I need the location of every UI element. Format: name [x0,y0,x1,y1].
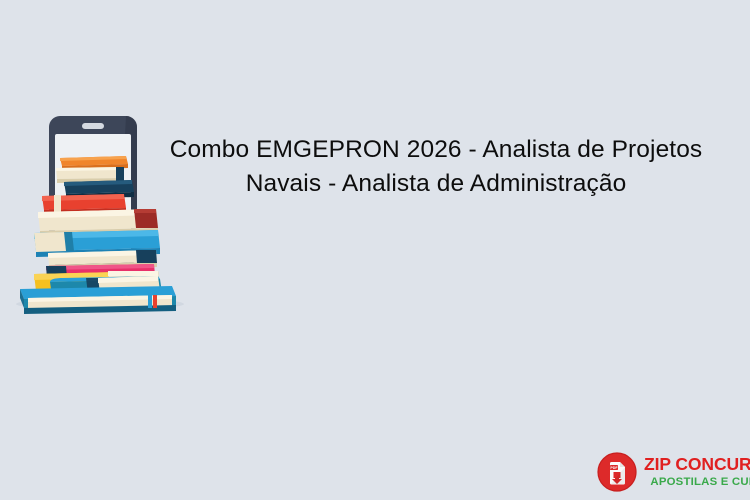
brand-tagline: APOSTILAS E CURSOS [644,477,750,488]
product-title-block: Combo EMGEPRON 2026 - Analista de Projet… [132,133,740,201]
pdf-download-circle-icon: PDF [597,452,637,492]
brand-wordmark: ZIP CONCURSOS APOSTILAS E CURSOS [644,456,750,488]
brand-logo[interactable]: PDF ZIP CONCURSOS APOSTILAS E CURSOS [597,450,743,494]
brand-name: ZIP CONCURSOS [644,456,750,474]
product-banner: Combo EMGEPRON 2026 - Analista de Projet… [0,0,750,500]
book-base-teal [20,286,176,314]
page-title: Combo EMGEPRON 2026 - Analista de Projet… [132,133,740,201]
svg-text:PDF: PDF [610,466,618,470]
